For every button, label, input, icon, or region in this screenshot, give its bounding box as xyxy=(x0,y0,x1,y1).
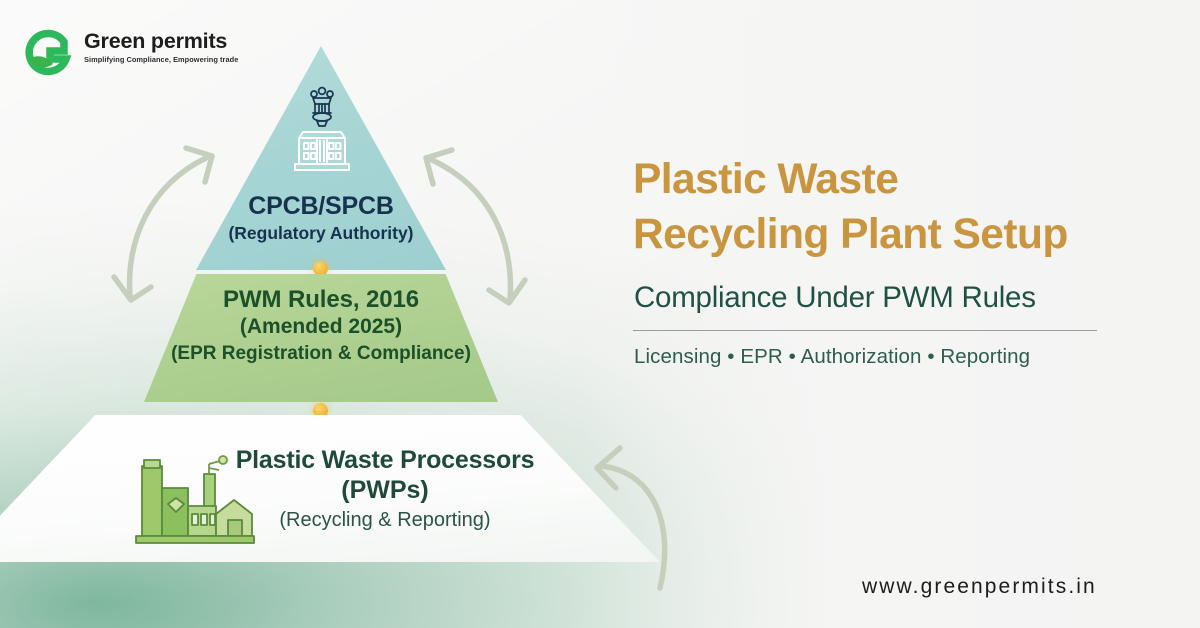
tier-top-title: CPCB/SPCB xyxy=(196,192,446,221)
tier-bottom-subtitle: (PWPs) xyxy=(150,476,620,505)
compliance-pyramid: CPCB/SPCB (Regulatory Authority) PWM Rul… xyxy=(0,0,700,628)
government-building-icon xyxy=(291,82,353,172)
keyword-list: Licensing • EPR • Authorization • Report… xyxy=(634,345,1134,369)
pyramid-tier-bottom-labels: Plastic Waste Processors (PWPs) (Recycli… xyxy=(150,446,620,532)
connector-dot-upper xyxy=(313,261,328,276)
website-url[interactable]: www.greenpermits.in xyxy=(862,575,1192,599)
tier-bottom-title: Plastic Waste Processors xyxy=(150,446,620,475)
pyramid-tier-middle-labels: PWM Rules, 2016 (Amended 2025) (EPR Regi… xyxy=(144,286,498,365)
title-line-2: Recycling Plant Setup xyxy=(633,208,1123,263)
page-subtitle: Compliance Under PWM Rules xyxy=(634,281,1134,315)
infographic-canvas: Green permits Simplifying Compliance, Em… xyxy=(0,0,1200,628)
tier-middle-title: PWM Rules, 2016 xyxy=(144,286,498,314)
headline-block: Plastic Waste Recycling Plant Setup Comp… xyxy=(633,0,1153,628)
tier-middle-subtitle: (Amended 2025) xyxy=(144,315,498,339)
headline-divider xyxy=(633,330,1097,331)
pyramid-tier-top-labels: CPCB/SPCB (Regulatory Authority) xyxy=(196,192,446,243)
tier-middle-note: (EPR Registration & Compliance) xyxy=(144,343,498,365)
tier-top-subtitle: (Regulatory Authority) xyxy=(196,223,446,243)
title-line-1: Plastic Waste xyxy=(633,156,898,203)
page-title: Plastic Waste Recycling Plant Setup xyxy=(633,153,1123,262)
tier-bottom-note: (Recycling & Reporting) xyxy=(150,509,620,532)
